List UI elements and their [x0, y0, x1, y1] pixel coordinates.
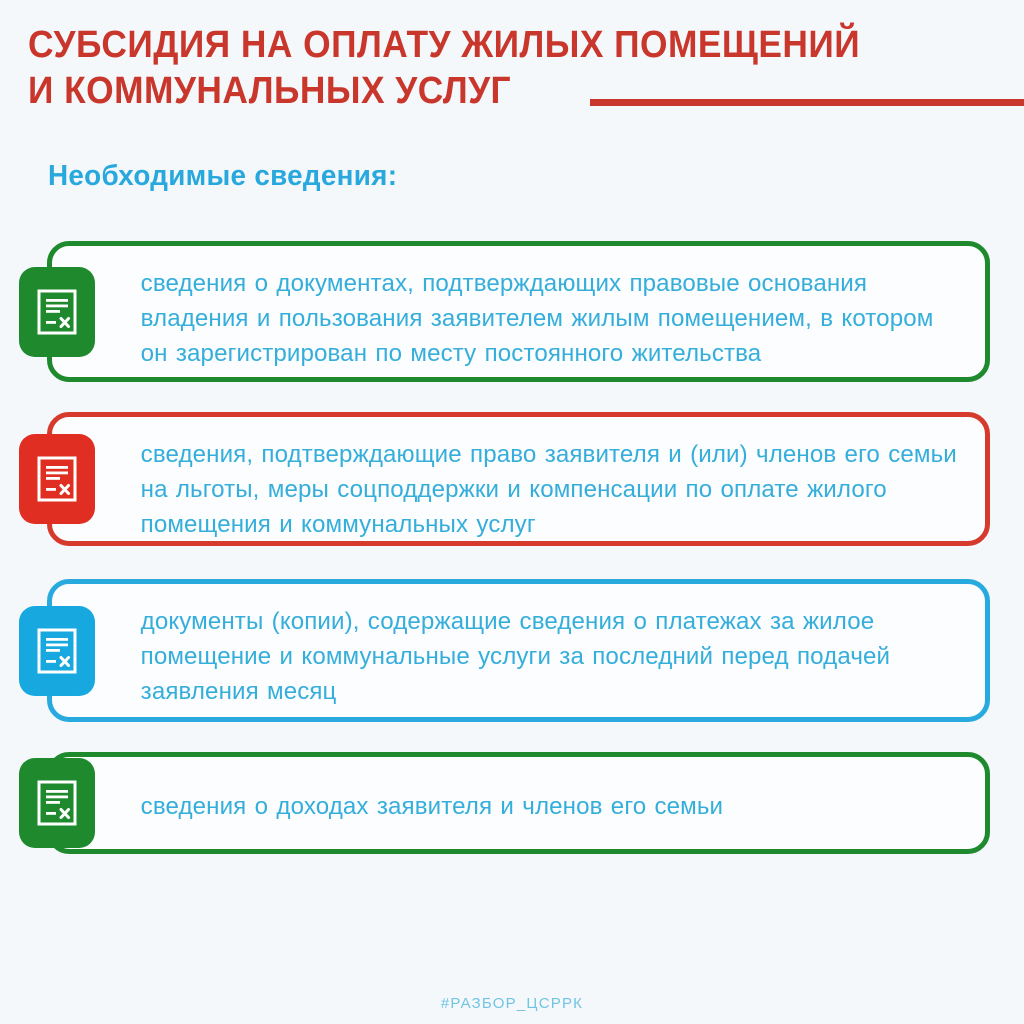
list-item: сведения, подтверждающие право заявителя…	[47, 412, 990, 546]
list-item: сведения о документах, подтверждающих пр…	[47, 241, 990, 382]
footer-hashtag: #РАЗБОР_ЦСРРК	[0, 995, 1024, 1012]
list-item-text: сведения, подтверждающие право заявителя…	[52, 417, 971, 562]
list-item-text: сведения о доходах заявителя и членов ег…	[52, 757, 971, 856]
list-item-text: сведения о документах, подтверждающих пр…	[52, 246, 971, 391]
list-item: документы (копии), содержащие сведения о…	[47, 579, 990, 722]
requirements-list: сведения о документах, подтверждающих пр…	[0, 0, 1024, 1024]
list-item: сведения о доходах заявителя и членов ег…	[47, 752, 990, 854]
list-item-text: документы (копии), содержащие сведения о…	[52, 584, 971, 729]
